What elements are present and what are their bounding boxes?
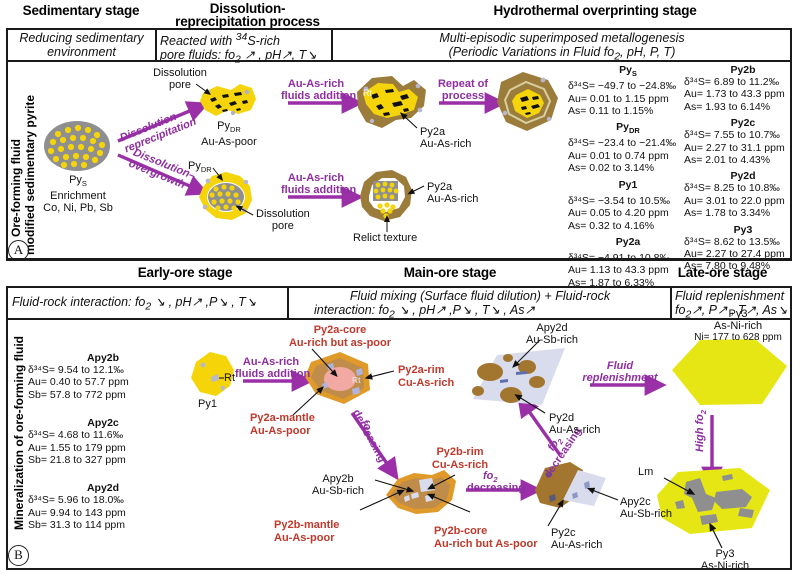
py2b-core-l2: Au-rich but As-poor <box>434 538 537 551</box>
rt-label-py1: Rt <box>224 372 235 384</box>
high-fo2-label: High fo2 <box>694 410 710 452</box>
apy2c-label: Apy2c Au-Sb-rich <box>620 496 672 520</box>
py2c-label: Py2c Au-As-rich <box>551 527 602 551</box>
py2a-core-l1: Py2a-core <box>265 324 415 337</box>
py2a-rim-label: Py2a-rim Cu-As-rich <box>398 364 454 389</box>
py3-top-label: Py3 As-Ni-rich Ni= 177 to 628 ppm <box>676 308 800 344</box>
panelB-graphics: Rt <box>0 0 800 574</box>
apy2b-l2: Au-Sb-rich <box>298 485 378 497</box>
py2b-core-l1: Py2b-core <box>434 525 537 538</box>
apy2b-l1: Apy2b <box>298 473 378 485</box>
apy2d-l1: Apy2d <box>512 322 592 334</box>
py3-bot-l1: Py3 <box>690 548 760 560</box>
py3-top-l1: Py3 <box>676 308 800 320</box>
py2a-mantle-l1: Py2a-mantle <box>250 412 315 425</box>
py3-top-l2: As-Ni-rich <box>676 320 800 332</box>
py2b-core-label: Py2b-core Au-rich but As-poor <box>434 525 537 550</box>
apy2b-label: Apy2b Au-Sb-rich <box>298 473 378 497</box>
py2a-core-label: Py2a-core Au-rich but as-poor <box>265 324 415 349</box>
py2d-l2: Au-As-rich <box>549 424 600 436</box>
py2a-mantle-label: Py2a-mantle Au-As-poor <box>250 412 315 437</box>
py2c-l1: Py2c <box>551 527 602 539</box>
auas-fluids-label-b: Au-As-rich fluids addition <box>235 356 307 380</box>
py2a-mantle-l2: Au-As-poor <box>250 425 315 438</box>
lm-label: Lm <box>638 466 653 478</box>
fluid-repl-l1: Fluid <box>578 360 662 372</box>
fluid-repl-l2: replenishment <box>578 372 662 384</box>
py3-bot-l2: As-Ni-rich <box>690 560 760 572</box>
svg-text:Rt: Rt <box>352 375 361 385</box>
apy2d-label: Apy2d Au-Sb-rich <box>512 322 592 346</box>
apy2c-l1: Apy2c <box>620 496 672 508</box>
py2d-label: Py2d Au-As-rich <box>549 412 600 436</box>
panelB-bottom-border <box>6 568 792 570</box>
py2a-rim-l2: Cu-As-rich <box>398 377 454 390</box>
py2d-l1: Py2d <box>549 412 600 424</box>
panelB-left-border <box>6 320 8 570</box>
py2b-mantle-label: Py2b-mantle Au-As-poor <box>274 519 339 544</box>
py2a-rim-l1: Py2a-rim <box>398 364 454 377</box>
py2b-rim-label: Py2b-rim Cu-As-rich <box>412 446 508 471</box>
auas-b-l1: Au-As-rich <box>235 356 307 368</box>
fo2-decreasing-word-2: decreasing <box>467 482 525 494</box>
py3-top-l3: Ni= 177 to 628 ppm <box>676 332 800 344</box>
fluid-replenishment-label: Fluid replenishment <box>578 360 662 384</box>
auas-b-l2: fluids addition <box>235 368 307 380</box>
py2c-l2: Au-As-rich <box>551 539 602 551</box>
apy2c-l2: Au-Sb-rich <box>620 508 672 520</box>
apy2d-l2: Au-Sb-rich <box>512 334 592 346</box>
py2a-core-l2: Au-rich but as-poor <box>265 337 415 350</box>
py1-label: Py1 <box>198 398 217 410</box>
py2b-mantle-l1: Py2b-mantle <box>274 519 339 532</box>
py2b-rim-l1: Py2b-rim <box>412 446 508 459</box>
py2b-mantle-l2: Au-As-poor <box>274 532 339 545</box>
panelB-right-border <box>790 320 792 570</box>
